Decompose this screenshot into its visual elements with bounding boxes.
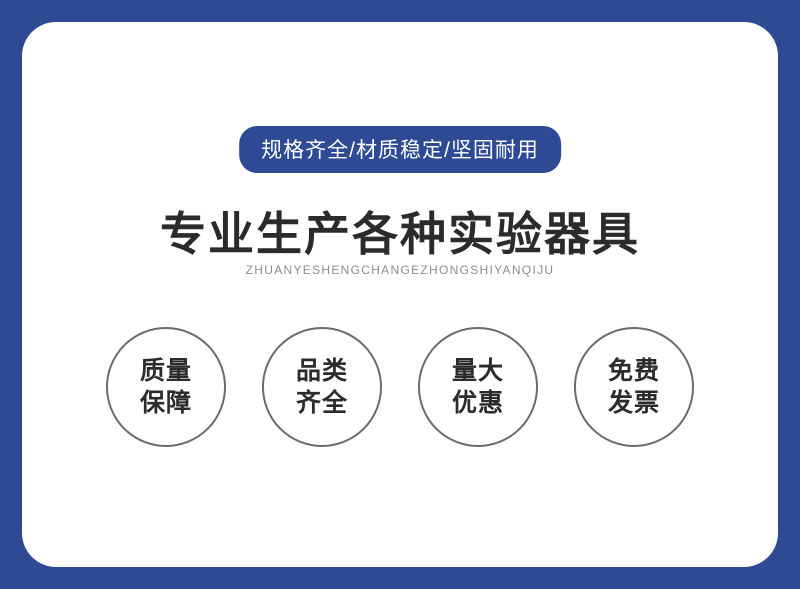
feature-circle-bulk-discount: 量大 优惠 xyxy=(418,327,538,447)
feature-circle-free-invoice-line2: 发票 xyxy=(608,387,660,419)
feature-circle-bulk-discount-line2: 优惠 xyxy=(452,387,504,419)
promo-banner: 规格齐全/材质稳定/坚固耐用 专业生产各种实验器具 ZHUANYESHENGCH… xyxy=(0,0,800,589)
feature-circle-quality: 质量 保障 xyxy=(106,327,226,447)
feature-tag: 规格齐全/材质稳定/坚固耐用 xyxy=(239,126,561,173)
page-subtitle-pinyin: ZHUANYESHENGCHANGEZHONGSHIYANQIJU xyxy=(22,263,778,277)
feature-circle-free-invoice: 免费 发票 xyxy=(574,327,694,447)
feature-circle-free-invoice-line1: 免费 xyxy=(608,355,660,387)
feature-circle-variety-line1: 品类 xyxy=(296,355,348,387)
feature-circle-variety: 品类 齐全 xyxy=(262,327,382,447)
feature-circle-variety-line2: 齐全 xyxy=(296,387,348,419)
page-title: 专业生产各种实验器具 xyxy=(22,198,778,264)
feature-circle-bulk-discount-line1: 量大 xyxy=(452,355,504,387)
banner-card: 规格齐全/材质稳定/坚固耐用 专业生产各种实验器具 ZHUANYESHENGCH… xyxy=(22,22,778,567)
feature-circle-quality-line1: 质量 xyxy=(140,355,192,387)
feature-circle-quality-line2: 保障 xyxy=(140,387,192,419)
feature-circle-list: 质量 保障 品类 齐全 量大 优惠 免费 发票 xyxy=(22,327,778,447)
